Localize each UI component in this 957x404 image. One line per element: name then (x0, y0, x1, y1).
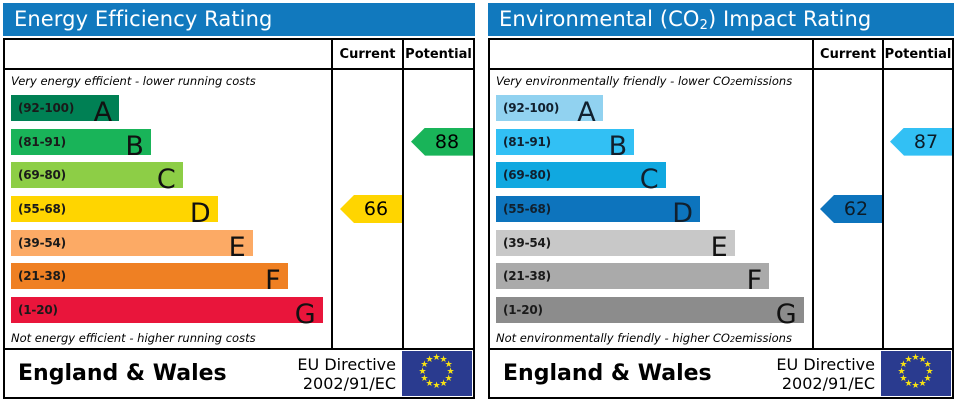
band-row-c: (69-80)C (496, 158, 810, 192)
energy-potential-bottom-spacer (404, 327, 473, 348)
band-range-label: (69-80) (496, 168, 551, 182)
energy-potential-slot-b: 88 (404, 125, 473, 159)
energy-current-slot-d: 66 (333, 192, 402, 226)
energy-potential-rating-arrow: 88 (411, 128, 473, 156)
co2-bottom-note: Not environmentally friendly - higher CO… (490, 327, 812, 348)
co2-bands-column: Very environmentally friendly - lower CO… (490, 40, 812, 348)
band-letter-label: G (776, 301, 797, 328)
band-row-g: (1-20)G (496, 293, 810, 327)
co2-band-f: (21-38)F (496, 263, 769, 289)
band-range-label: (1-20) (11, 303, 58, 317)
co2-potential-top-spacer (884, 70, 952, 91)
co2-impact-rating-panel: Environmental (CO2) Impact Rating Very e… (485, 0, 957, 404)
energy-potential-slot-g (404, 293, 473, 327)
co2-potential-rating-arrow: 87 (890, 128, 952, 156)
co2-current-slot-d: 62 (814, 192, 882, 226)
co2-current-slot-c (814, 158, 882, 192)
co2-current-slot-f (814, 260, 882, 294)
energy-current-slot-g (333, 293, 402, 327)
co2-current-header: Current (814, 40, 882, 70)
energy-band-f: (21-38)F (11, 263, 288, 289)
band-row-f: (21-38)F (11, 260, 329, 294)
co2-potential-slot-d (884, 192, 952, 226)
co2-potential-slot-b: 87 (884, 125, 952, 159)
energy-band-e: (39-54)E (11, 230, 253, 256)
energy-footer-directive: EU Directive 2002/91/EC (297, 350, 402, 397)
band-letter-label: E (711, 234, 728, 261)
energy-bands-column: Very energy efficient - lower running co… (5, 40, 331, 348)
band-row-e: (39-54)E (496, 226, 810, 260)
co2-current-rating-arrow: 62 (820, 195, 882, 223)
energy-potential-rows: 88 (404, 91, 473, 327)
energy-top-note: Very energy efficient - lower running co… (5, 70, 331, 91)
co2-band-g: (1-20)G (496, 297, 804, 323)
band-letter-label: D (672, 200, 693, 227)
energy-directive-line1: EU Directive (297, 355, 396, 374)
band-range-label: (55-68) (496, 202, 551, 216)
eu-flag-icon (402, 351, 472, 396)
energy-current-column: Current 66 (331, 40, 402, 348)
band-letter-label: F (747, 267, 763, 294)
band-letter-label: D (190, 200, 211, 227)
energy-current-slot-f (333, 260, 402, 294)
band-range-label: (21-38) (11, 269, 66, 283)
energy-current-top-spacer (333, 70, 402, 91)
energy-band-b: (81-91)B (11, 129, 151, 155)
energy-footer: England & Wales EU Directive 2002/91/EC (5, 350, 473, 397)
band-row-g: (1-20)G (11, 293, 329, 327)
co2-directive-line1: EU Directive (776, 355, 875, 374)
band-range-label: (92-100) (11, 101, 74, 115)
energy-band-a: (92-100)A (11, 95, 119, 121)
energy-current-header: Current (333, 40, 402, 70)
band-letter-label: C (640, 166, 659, 193)
energy-directive-line2: 2002/91/EC (303, 374, 396, 393)
energy-rating-body: Very energy efficient - lower running co… (5, 40, 473, 350)
panel-title-co2-subscript: 2 (700, 18, 708, 33)
energy-band-list: (92-100)A(81-91)B(69-80)C(55-68)D(39-54)… (5, 91, 331, 327)
band-letter-label: A (94, 99, 112, 126)
band-letter-label: E (229, 234, 246, 261)
panel-title-co2-suffix: ) Impact Rating (708, 7, 871, 31)
co2-potential-slot-c (884, 158, 952, 192)
band-row-d: (55-68)D (496, 192, 810, 226)
band-letter-label: G (295, 301, 316, 328)
band-row-c: (69-80)C (11, 158, 329, 192)
co2-potential-slot-g (884, 293, 952, 327)
energy-band-d: (55-68)D (11, 196, 218, 222)
energy-current-slot-c (333, 158, 402, 192)
co2-current-slot-b (814, 125, 882, 159)
band-letter-label: C (157, 166, 176, 193)
co2-top-note-suffix: emissions (735, 74, 792, 88)
energy-potential-slot-a (404, 91, 473, 125)
co2-top-note-prefix: Very environmentally friendly - lower CO (496, 74, 730, 88)
energy-potential-slot-f (404, 260, 473, 294)
energy-band-c: (69-80)C (11, 162, 183, 188)
band-range-label: (69-80) (11, 168, 66, 182)
band-range-label: (81-91) (496, 135, 551, 149)
energy-potential-slot-c (404, 158, 473, 192)
co2-potential-slot-e (884, 226, 952, 260)
co2-potential-bottom-spacer (884, 327, 952, 348)
co2-band-a: (92-100)A (496, 95, 603, 121)
co2-potential-header: Potential (884, 40, 952, 70)
co2-directive-line2: 2002/91/EC (782, 374, 875, 393)
eu-flag-icon (881, 351, 951, 396)
energy-footer-region: England & Wales (5, 350, 297, 397)
co2-bottom-note-suffix: emissions (735, 331, 792, 345)
co2-current-column: Current 62 (812, 40, 882, 348)
co2-current-slot-e (814, 226, 882, 260)
energy-band-g: (1-20)G (11, 297, 323, 323)
energy-potential-header: Potential (404, 40, 473, 70)
energy-potential-slot-e (404, 226, 473, 260)
co2-current-slot-a (814, 91, 882, 125)
band-range-label: (55-68) (11, 202, 66, 216)
co2-top-note-subscript: 2 (730, 78, 735, 87)
co2-current-bottom-spacer (814, 327, 882, 348)
panel-title-co2: Environmental (CO2) Impact Rating (488, 3, 954, 36)
energy-potential-column: Potential 88 (402, 40, 473, 348)
co2-band-e: (39-54)E (496, 230, 735, 256)
co2-header-blank (490, 40, 812, 70)
co2-rating-body: Very environmentally friendly - lower CO… (490, 40, 952, 350)
band-row-e: (39-54)E (11, 226, 329, 260)
band-letter-label: B (609, 133, 628, 160)
band-row-b: (81-91)B (496, 125, 810, 159)
energy-bottom-note: Not energy efficient - higher running co… (5, 327, 331, 348)
co2-footer: England & Wales EU Directive 2002/91/EC (490, 350, 952, 397)
panel-title-co2-prefix: Environmental (CO (499, 7, 700, 31)
band-letter-label: B (125, 133, 144, 160)
co2-top-note: Very environmentally friendly - lower CO… (490, 70, 812, 91)
energy-bottom-note-text: Not energy efficient - higher running co… (11, 331, 256, 345)
energy-current-bottom-spacer (333, 327, 402, 348)
panel-title-energy: Energy Efficiency Rating (3, 3, 475, 36)
band-row-a: (92-100)A (11, 91, 329, 125)
band-range-label: (39-54) (496, 236, 551, 250)
co2-rating-table: Very environmentally friendly - lower CO… (488, 38, 954, 399)
band-letter-label: A (577, 99, 595, 126)
energy-efficiency-rating-panel: Energy Efficiency Rating Very energy eff… (0, 0, 478, 404)
band-range-label: (92-100) (496, 101, 559, 115)
co2-current-slot-g (814, 293, 882, 327)
panel-title-energy-text: Energy Efficiency Rating (14, 7, 272, 31)
energy-rating-table: Very energy efficient - lower running co… (3, 38, 475, 399)
energy-potential-slot-d (404, 192, 473, 226)
energy-current-slot-e (333, 226, 402, 260)
co2-band-c: (69-80)C (496, 162, 666, 188)
co2-band-d: (55-68)D (496, 196, 700, 222)
energy-top-note-text: Very energy efficient - lower running co… (11, 74, 256, 88)
energy-current-rows: 66 (333, 91, 402, 327)
band-row-d: (55-68)D (11, 192, 329, 226)
energy-potential-top-spacer (404, 70, 473, 91)
energy-current-slot-a (333, 91, 402, 125)
energy-current-slot-b (333, 125, 402, 159)
epc-charts-container: Energy Efficiency Rating Very energy eff… (0, 0, 957, 404)
co2-band-list: (92-100)A(81-91)B(69-80)C(55-68)D(39-54)… (490, 91, 812, 327)
band-range-label: (81-91) (11, 135, 66, 149)
co2-potential-slot-f (884, 260, 952, 294)
co2-band-b: (81-91)B (496, 129, 634, 155)
energy-header-blank (5, 40, 331, 70)
band-range-label: (39-54) (11, 236, 66, 250)
band-row-b: (81-91)B (11, 125, 329, 159)
co2-bottom-note-prefix: Not environmentally friendly - higher CO (496, 331, 730, 345)
energy-current-rating-arrow: 66 (340, 195, 402, 223)
band-row-f: (21-38)F (496, 260, 810, 294)
band-letter-label: F (265, 267, 281, 294)
co2-current-rows: 62 (814, 91, 882, 327)
co2-potential-column: Potential 87 (882, 40, 952, 348)
co2-current-top-spacer (814, 70, 882, 91)
band-row-a: (92-100)A (496, 91, 810, 125)
co2-footer-region: England & Wales (490, 350, 776, 397)
co2-potential-slot-a (884, 91, 952, 125)
co2-bottom-note-subscript: 2 (730, 335, 735, 344)
co2-footer-directive: EU Directive 2002/91/EC (776, 350, 881, 397)
band-range-label: (1-20) (496, 303, 543, 317)
co2-potential-rows: 87 (884, 91, 952, 327)
band-range-label: (21-38) (496, 269, 551, 283)
